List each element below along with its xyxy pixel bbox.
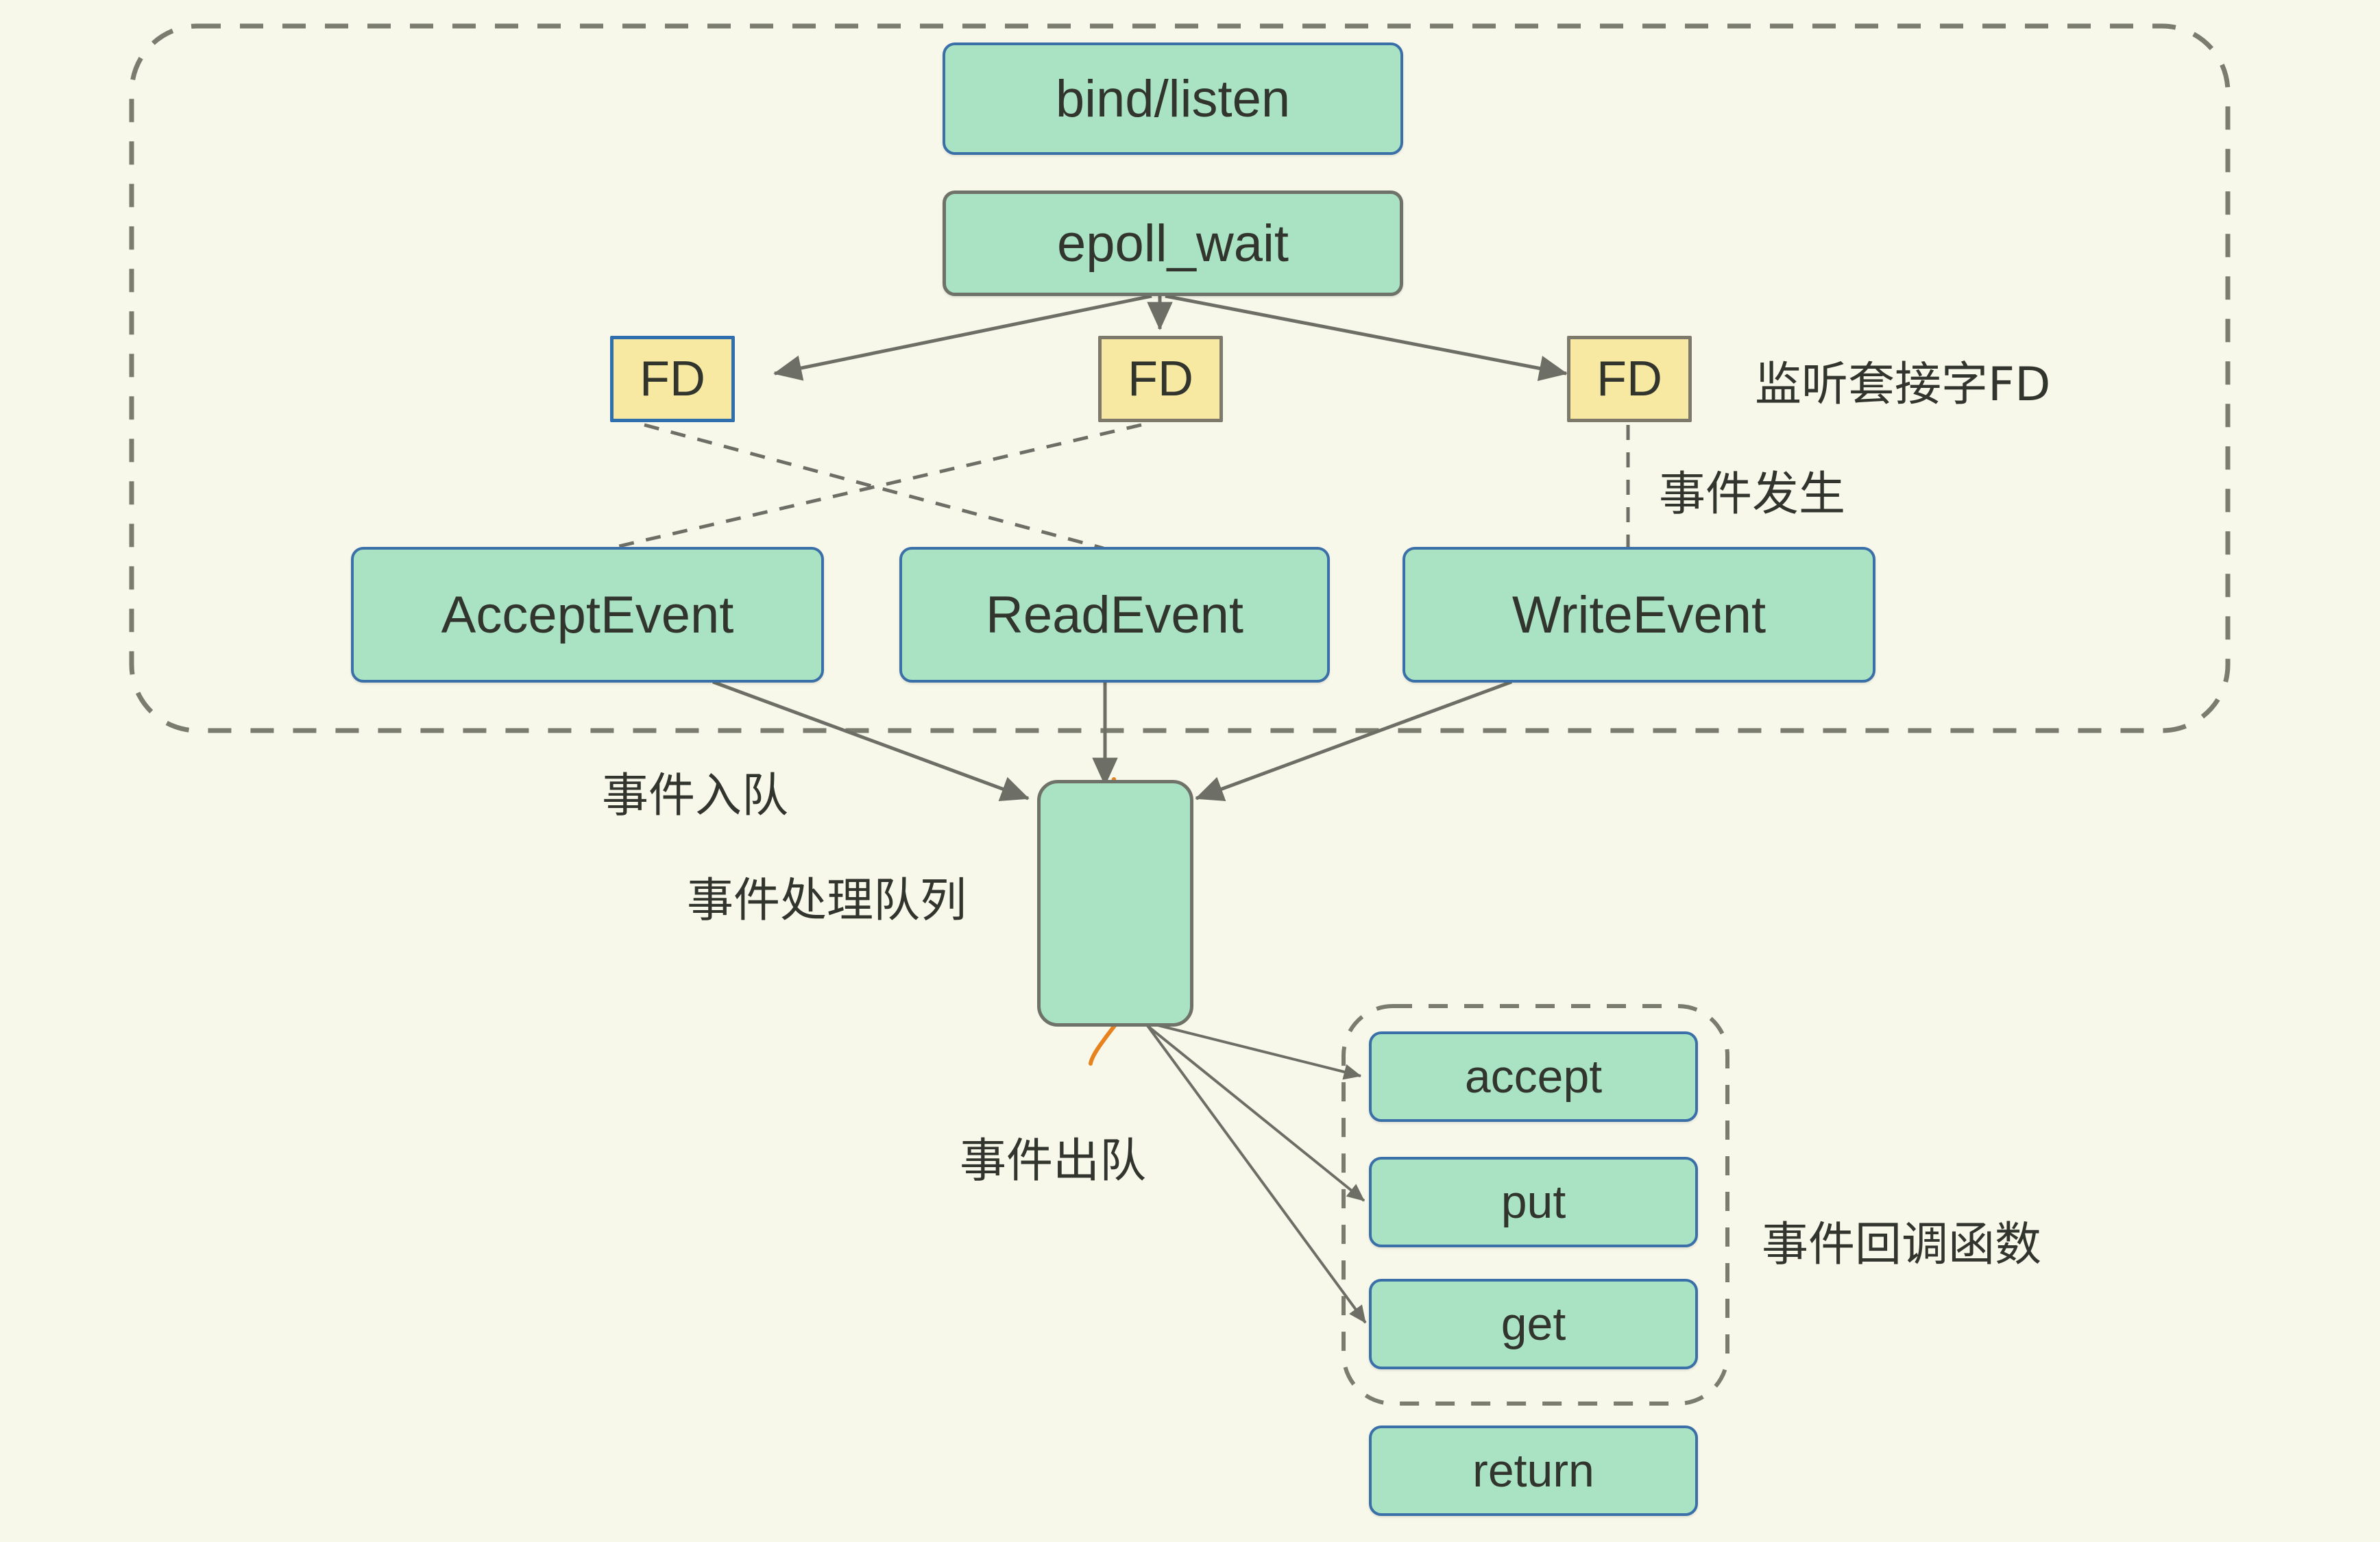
annotation-listening-socket-fd: 监听套接字FD	[1755, 346, 2050, 414]
node-fd-middle-label: FD	[1128, 351, 1193, 407]
annotation-event-enqueue: 事件入队	[602, 757, 788, 825]
node-return-label: return	[1472, 1444, 1594, 1497]
node-fd-left-label: FD	[640, 351, 705, 407]
node-accept-callback-label: accept	[1465, 1050, 1602, 1103]
node-read-event-label: ReadEvent	[986, 585, 1243, 645]
node-read-event[interactable]: ReadEvent	[899, 547, 1330, 683]
node-accept-callback[interactable]: accept	[1369, 1031, 1698, 1122]
node-accept-event-label: AcceptEvent	[441, 585, 734, 645]
node-fd-right-label: FD	[1596, 351, 1662, 407]
edge-write-event-to-queue	[1196, 682, 1511, 798]
node-epoll-wait[interactable]: epoll_wait	[943, 191, 1403, 296]
annotation-event-occurs: 事件发生	[1659, 456, 1845, 524]
annotation-event-processing-queue: 事件处理队列	[687, 862, 967, 930]
annotation-event-dequeue: 事件出队	[960, 1123, 1146, 1190]
node-write-event-label: WriteEvent	[1512, 585, 1766, 645]
edge-fd-middle-to-accept-event	[610, 425, 1141, 548]
node-accept-event[interactable]: AcceptEvent	[351, 547, 824, 683]
edge-epollwait-to-fd-left	[775, 296, 1152, 374]
node-return[interactable]: return	[1369, 1425, 1698, 1516]
node-get-callback[interactable]: get	[1369, 1279, 1698, 1369]
node-bind-listen-label: bind/listen	[1056, 69, 1290, 129]
node-put-callback[interactable]: put	[1369, 1157, 1698, 1247]
node-epoll-wait-label: epoll_wait	[1057, 214, 1289, 273]
node-put-callback-label: put	[1501, 1175, 1566, 1229]
node-event-queue[interactable]	[1037, 780, 1193, 1027]
annotation-event-callback-functions: 事件回调函数	[1762, 1206, 2041, 1274]
node-fd-left[interactable]: FD	[610, 336, 735, 422]
node-fd-right[interactable]: FD	[1567, 336, 1692, 422]
diagram-canvas: bind/listen epoll_wait FD FD FD AcceptEv…	[0, 0, 2380, 1542]
edge-epollwait-to-fd-right	[1165, 296, 1566, 374]
node-get-callback-label: get	[1501, 1297, 1566, 1351]
node-bind-listen[interactable]: bind/listen	[943, 42, 1403, 155]
node-write-event[interactable]: WriteEvent	[1402, 547, 1875, 683]
node-fd-middle[interactable]: FD	[1098, 336, 1223, 422]
